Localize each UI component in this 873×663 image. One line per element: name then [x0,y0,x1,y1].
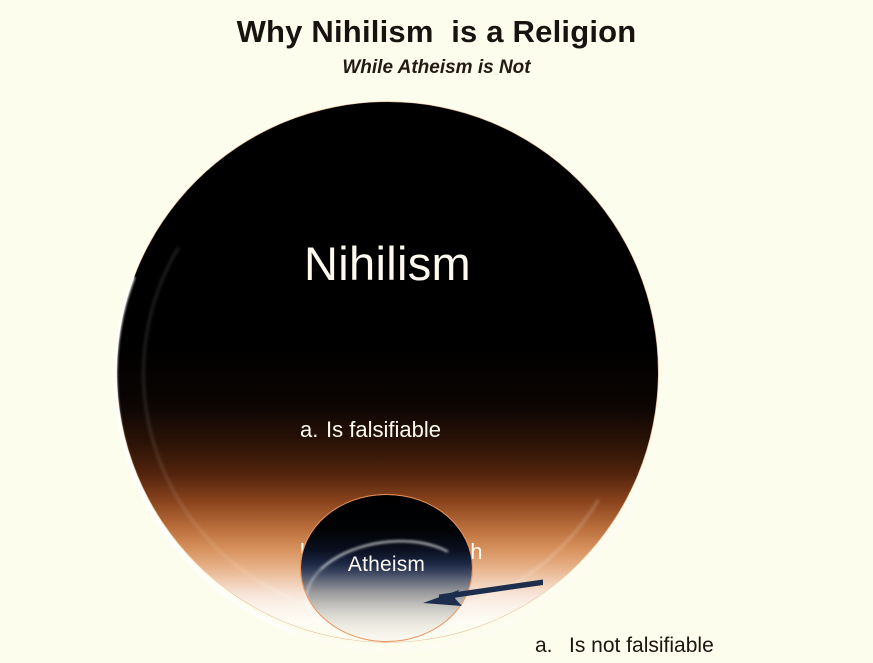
nihilism-label: Nihilism [117,240,658,287]
page-subtitle: While Atheism is Not [0,57,873,79]
nihilism-item-text-a: Is falsifiable [326,417,441,442]
page-title: Why Nihilism is a Religion [0,14,873,50]
list-item: a.Is not falsifiable [535,631,873,661]
atheism-item-list: a.Is not falsifiable b.Takes no position… [535,572,873,663]
atheism-item-marker-a: a. [535,631,569,661]
atheism-item-text-a: Is not falsifiable [569,634,714,657]
list-item: a.Is falsifiable [300,410,680,451]
nihilism-item-marker-c: c. [300,653,326,663]
atheism-label: Atheism [301,553,472,577]
nihilism-item-marker-a: a. [300,410,326,451]
slide-canvas: Why Nihilism is a Religion While Atheism… [0,0,873,663]
